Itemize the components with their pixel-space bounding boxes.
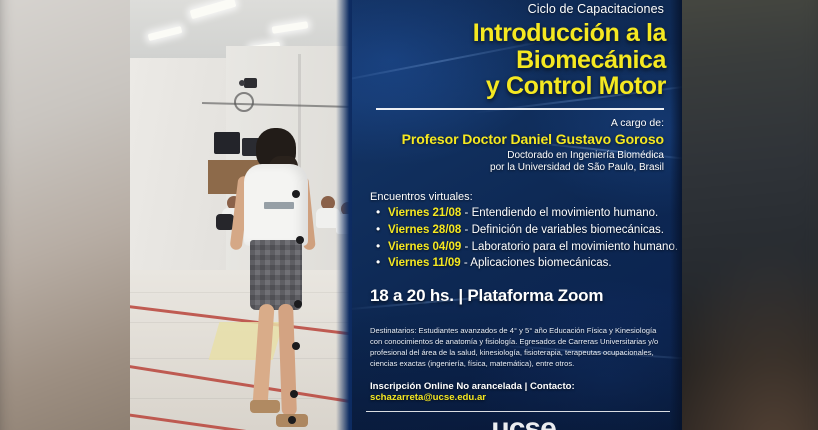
presenter-credentials: Doctorado en Ingeniería Biomédica por la…: [366, 150, 664, 176]
session-topic: Definición de variables biomecánicas.: [472, 224, 664, 236]
session-date: Viernes 11/09: [388, 257, 461, 269]
screenshot-canvas: Ciclo de Capacitaciones Introducción a l…: [0, 0, 818, 430]
title-divider: [376, 108, 664, 110]
registration-label: Inscripción Online No arancelada | Conta…: [370, 381, 575, 392]
session-date: Viernes 28/08: [388, 224, 461, 236]
session-separator: -: [461, 224, 471, 236]
presenter-intro: A cargo de:: [366, 117, 664, 129]
motion-capture-camera-icon: [244, 78, 257, 88]
session-date: Viernes 21/08: [388, 207, 461, 219]
poster-title: Introducción a la Biomecánica y Control …: [366, 20, 666, 100]
poster-kicker: Ciclo de Capacitaciones: [366, 2, 664, 16]
subject-with-markers: [242, 128, 308, 430]
lab-photograph: [130, 0, 358, 430]
list-item: Viernes 21/08 - Entendiendo el movimient…: [376, 205, 670, 222]
poster-right-fade: [670, 0, 682, 430]
monitor: [214, 132, 240, 154]
list-item: Viernes 04/09 - Laboratorio para el movi…: [376, 239, 670, 256]
session-separator: -: [461, 241, 471, 253]
contact-email: schazarreta@ucse.edu.ar: [370, 392, 486, 403]
credential-line-2: por la Universidad de São Paulo, Brasil: [490, 162, 664, 173]
audience-note: Destinatarios: Estudiantes avanzados de …: [370, 326, 666, 369]
footer-divider: [366, 411, 670, 413]
session-topic: Laboratorio para el movimiento humano.: [472, 241, 678, 253]
list-item: Viernes 11/09 - Aplicaciones biomecánica…: [376, 255, 670, 272]
sessions-list: Viernes 21/08 - Entendiendo el movimient…: [366, 205, 670, 272]
credential-line-1: Doctorado en Ingeniería Biomédica: [507, 150, 664, 161]
poster-title-line1: Introducción a la Biomecánica: [473, 19, 666, 74]
presenter-name: Profesor Doctor Daniel Gustavo Goroso: [366, 131, 664, 147]
session-topic: Aplicaciones biomecánicas.: [470, 257, 611, 269]
session-date: Viernes 04/09: [388, 241, 461, 253]
schedule-line: 18 a 20 hs. | Plataforma Zoom: [370, 286, 670, 306]
sessions-heading: Encuentros virtuales:: [370, 191, 670, 203]
poster-panel: Ciclo de Capacitaciones Introducción a l…: [352, 0, 682, 430]
session-separator: -: [461, 257, 471, 269]
poster-title-line2: y Control Motor: [366, 73, 666, 100]
list-item: Viernes 28/08 - Definición de variables …: [376, 222, 670, 239]
logo-text-fragment: ucse: [491, 414, 555, 430]
session-topic: Entendiendo el movimiento humano.: [472, 207, 659, 219]
registration-line: Inscripción Online No arancelada | Conta…: [370, 381, 670, 403]
session-separator: -: [461, 207, 471, 219]
institution-logo-cropped: ucse: [352, 414, 682, 430]
